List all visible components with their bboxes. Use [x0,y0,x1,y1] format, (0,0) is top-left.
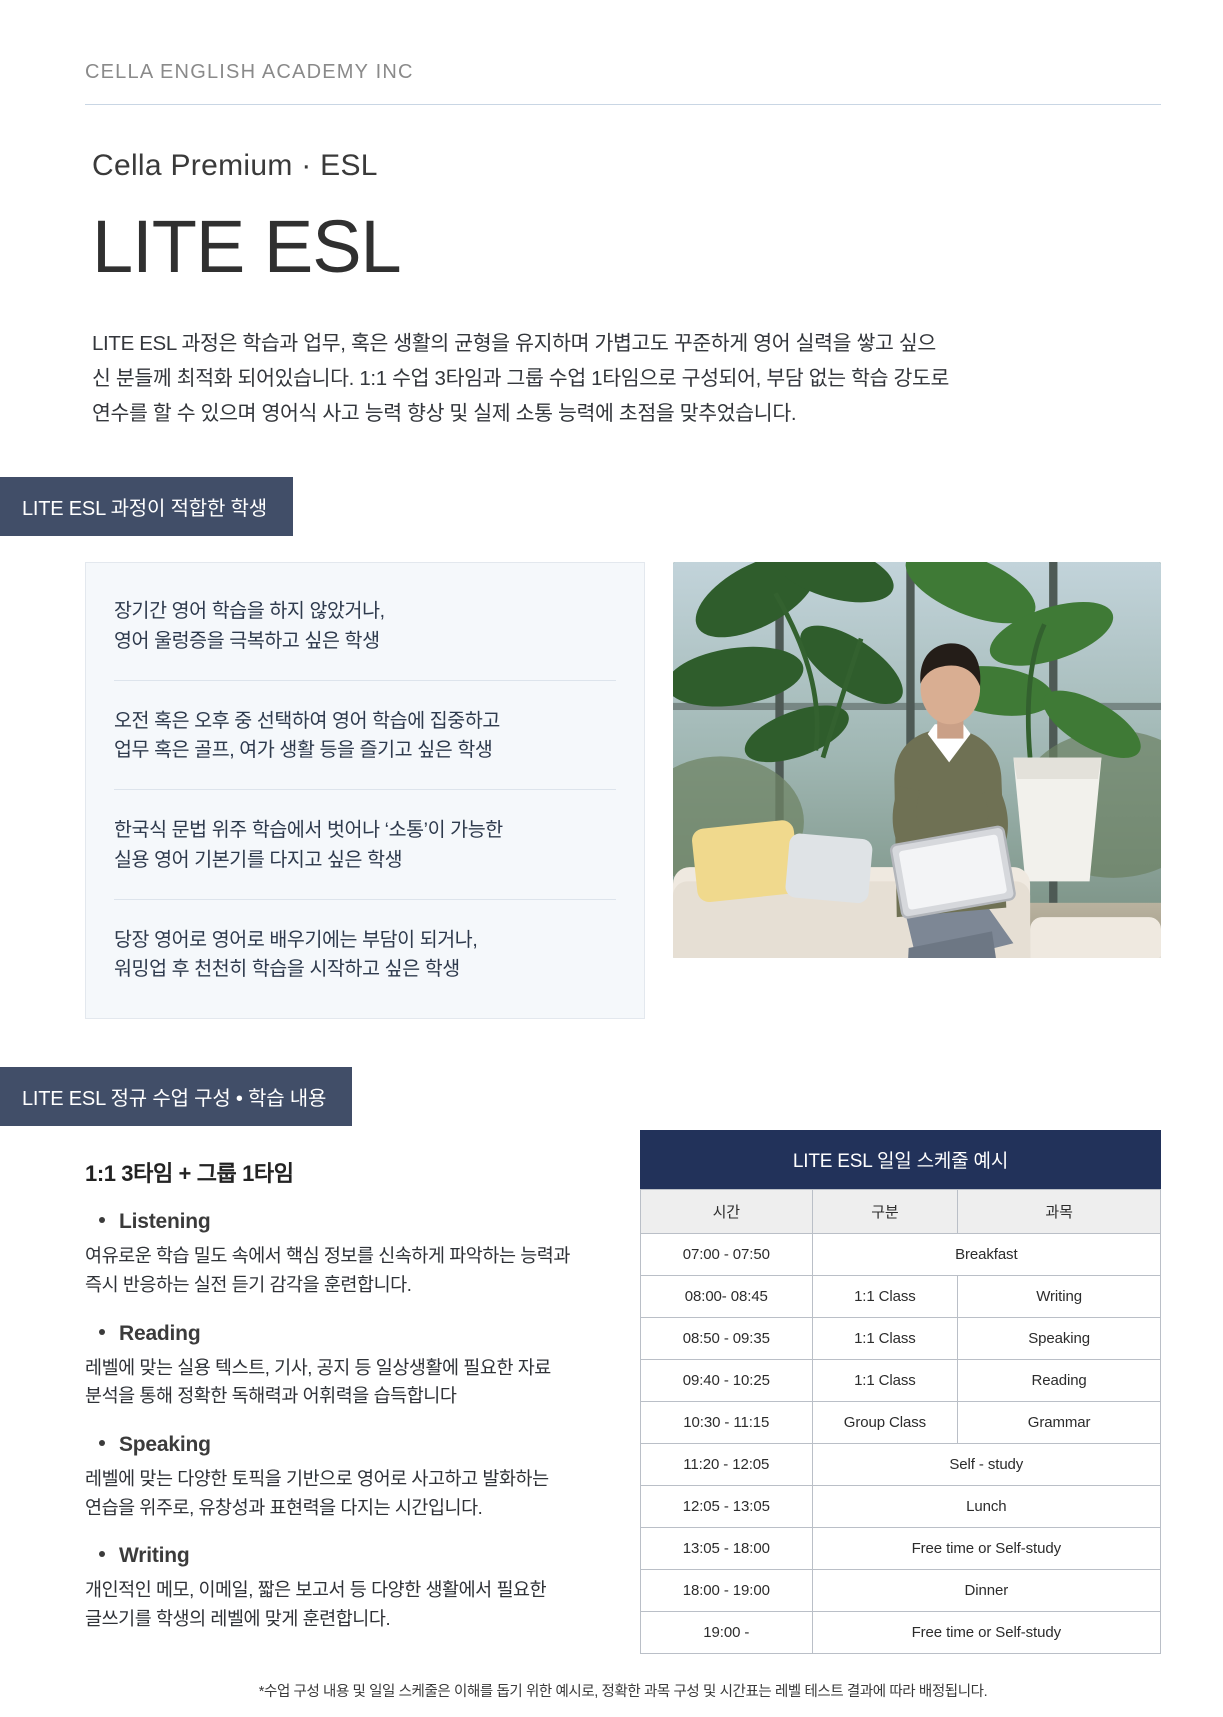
skill-description: 레벨에 맞는 다양한 토픽을 기반으로 영어로 사고하고 발화하는 연습을 위주… [85,1465,620,1522]
cell-subject: Dinner [812,1570,1160,1612]
list-item: Writing 개인적인 메모, 이메일, 짧은 보고서 등 다양한 생활에서 … [85,1544,620,1633]
section-1-banner-wrap: LITE ESL 과정이 적합한 학생 [0,477,1223,536]
cell-subject: Lunch [812,1486,1160,1528]
criteria-line: 영어 울렁증을 극복하고 싶은 학생 [114,627,616,656]
cell-subject: Reading [958,1360,1161,1402]
criteria-line: 워밍업 후 천천히 학습을 시작하고 싶은 학생 [114,955,616,984]
skill-desc-line: 레벨에 맞는 다양한 토픽을 기반으로 영어로 사고하고 발화하는 [85,1465,620,1494]
schedule-title: LITE ESL 일일 스케줄 예시 [640,1130,1161,1189]
skill-label: Writing [119,1544,190,1568]
cell-subject: Grammar [958,1402,1161,1444]
skill-description: 개인적인 메모, 이메일, 짧은 보고서 등 다양한 생활에서 필요한 글쓰기를… [85,1576,620,1633]
cell-time: 18:00 - 19:00 [641,1570,813,1612]
skill-name-row: Reading [85,1322,620,1346]
criteria-line: 한국식 문법 위주 학습에서 벗어나 ‘소통’이 가능한 [114,816,616,845]
skill-label: Reading [119,1322,200,1346]
table-row: 11:20 - 12:05Self - study [641,1444,1161,1486]
skill-name-row: Speaking [85,1433,620,1457]
skill-label: Listening [119,1210,211,1234]
intro-line-2: 신 분들께 최적화 되어있습니다. 1:1 수업 3타임과 그룹 수업 1타임으… [92,361,1161,396]
curriculum-schedule-row: 1:1 3타임 + 그룹 1타임 Listening 여유로운 학습 밀도 속에… [0,1126,1223,1654]
cell-type: 1:1 Class [812,1318,958,1360]
title-block: Cella Premium · ESL LITE ESL [0,105,1223,286]
list-item: Reading 레벨에 맞는 실용 텍스트, 기사, 공지 등 일상생활에 필요… [85,1322,620,1411]
lounge-photo [673,562,1161,958]
schedule-column: LITE ESL 일일 스케줄 예시 시간 구분 과목 07:00 - 07:5… [640,1130,1223,1654]
cell-time: 10:30 - 11:15 [641,1402,813,1444]
page-title: LITE ESL [92,208,1223,286]
list-item: Listening 여유로운 학습 밀도 속에서 핵심 정보를 신속하게 파악하… [85,1210,620,1299]
table-row: 07:00 - 07:50Breakfast [641,1234,1161,1276]
list-item: 당장 영어로 영어로 배우기에는 부담이 되거나, 워밍업 후 천천히 학습을 … [114,899,616,1009]
cell-time: 13:05 - 18:00 [641,1528,813,1570]
skill-desc-line: 개인적인 메모, 이메일, 짧은 보고서 등 다양한 생활에서 필요한 [85,1576,620,1605]
page-eyebrow: Cella Premium · ESL [92,149,1223,182]
table-row: 08:50 - 09:351:1 ClassSpeaking [641,1318,1161,1360]
criteria-photo-row: 장기간 영어 학습을 하지 않았거나, 영어 울렁증을 극복하고 싶은 학생 오… [85,562,1161,1019]
table-row: 12:05 - 13:05Lunch [641,1486,1161,1528]
bullet-icon [99,1440,105,1446]
section-2-banner: LITE ESL 정규 수업 구성 • 학습 내용 [0,1067,352,1126]
cell-time: 09:40 - 10:25 [641,1360,813,1402]
cell-time: 19:00 - [641,1612,813,1654]
criteria-box: 장기간 영어 학습을 하지 않았거나, 영어 울렁증을 극복하고 싶은 학생 오… [85,562,645,1019]
table-row: 08:00- 08:451:1 ClassWriting [641,1276,1161,1318]
skill-desc-line: 글쓰기를 학생의 레벨에 맞게 훈련합니다. [85,1605,620,1634]
cell-subject: Writing [958,1276,1161,1318]
list-item: 한국식 문법 위주 학습에서 벗어나 ‘소통’이 가능한 실용 영어 기본기를 … [114,789,616,899]
schedule-table-body: 07:00 - 07:50Breakfast08:00- 08:451:1 Cl… [641,1234,1161,1654]
list-item: 장기간 영어 학습을 하지 않았거나, 영어 울렁증을 극복하고 싶은 학생 [114,571,616,680]
criteria-line: 오전 혹은 오후 중 선택하여 영어 학습에 집중하고 [114,707,616,736]
schedule-table: 시간 구분 과목 07:00 - 07:50Breakfast08:00- 08… [640,1189,1161,1654]
skill-name-row: Listening [85,1210,620,1234]
brand-name: CELLA ENGLISH ACADEMY INC [85,62,1223,82]
table-row: 13:05 - 18:00Free time or Self-study [641,1528,1161,1570]
skill-desc-line: 즉시 반응하는 실전 듣기 감각을 훈련합니다. [85,1271,620,1300]
curriculum-list: 1:1 3타임 + 그룹 1타임 Listening 여유로운 학습 밀도 속에… [0,1156,640,1633]
table-row: 18:00 - 19:00Dinner [641,1570,1161,1612]
skill-desc-line: 여유로운 학습 밀도 속에서 핵심 정보를 신속하게 파악하는 능력과 [85,1242,620,1271]
skill-label: Speaking [119,1433,211,1457]
skill-name-row: Writing [85,1544,620,1568]
cell-subject: Breakfast [812,1234,1160,1276]
brand-header: CELLA ENGLISH ACADEMY INC [0,0,1223,82]
intro-line-1: LITE ESL 과정은 학습과 업무, 혹은 생활의 균형을 유지하며 가볍고… [92,326,1161,361]
section-1-banner: LITE ESL 과정이 적합한 학생 [0,477,293,536]
cell-subject: Free time or Self-study [812,1612,1160,1654]
lounge-photo-graphic [673,562,1161,958]
cell-subject: Speaking [958,1318,1161,1360]
criteria-line: 실용 영어 기본기를 다지고 싶은 학생 [114,846,616,875]
cell-time: 07:00 - 07:50 [641,1234,813,1276]
skill-desc-line: 연습을 위주로, 유창성과 표현력을 다지는 시간입니다. [85,1494,620,1523]
skill-description: 레벨에 맞는 실용 텍스트, 기사, 공지 등 일상생활에 필요한 자료 분석을… [85,1354,620,1411]
skill-desc-line: 레벨에 맞는 실용 텍스트, 기사, 공지 등 일상생활에 필요한 자료 [85,1354,620,1383]
table-row: 19:00 -Free time or Self-study [641,1612,1161,1654]
column-header-subject: 과목 [958,1190,1161,1234]
skill-desc-line: 분석을 통해 정확한 독해력과 어휘력을 습득합니다 [85,1382,620,1411]
cell-subject: Free time or Self-study [812,1528,1160,1570]
intro-line-3: 연수를 할 수 있으며 영어식 사고 능력 향상 및 실제 소통 능력에 초점을… [92,396,1161,431]
cell-type: 1:1 Class [812,1276,958,1318]
cell-time: 12:05 - 13:05 [641,1486,813,1528]
section-2-banner-wrap: LITE ESL 정규 수업 구성 • 학습 내용 [0,1067,1223,1126]
table-header-row: 시간 구분 과목 [641,1190,1161,1234]
criteria-line: 업무 혹은 골프, 여가 생활 등을 즐기고 싶은 학생 [114,736,616,765]
skill-description: 여유로운 학습 밀도 속에서 핵심 정보를 신속하게 파악하는 능력과 즉시 반… [85,1242,620,1299]
bullet-icon [99,1329,105,1335]
footnote: *수업 구성 내용 및 일일 스케줄은 이해를 돕기 위한 예시로, 정확한 과… [85,1680,1161,1701]
table-row: 09:40 - 10:251:1 ClassReading [641,1360,1161,1402]
curriculum-heading: 1:1 3타임 + 그룹 1타임 [85,1156,620,1188]
table-row: 10:30 - 11:15Group ClassGrammar [641,1402,1161,1444]
cell-subject: Self - study [812,1444,1160,1486]
intro-paragraph: LITE ESL 과정은 학습과 업무, 혹은 생활의 균형을 유지하며 가볍고… [92,326,1161,432]
criteria-line: 당장 영어로 영어로 배우기에는 부담이 되거나, [114,926,616,955]
bullet-icon [99,1551,105,1557]
cell-time: 08:00- 08:45 [641,1276,813,1318]
bullet-icon [99,1217,105,1223]
curriculum-column: 1:1 3타임 + 그룹 1타임 Listening 여유로운 학습 밀도 속에… [0,1126,640,1633]
cell-time: 11:20 - 12:05 [641,1444,813,1486]
cell-type: 1:1 Class [812,1360,958,1402]
list-item: 오전 혹은 오후 중 선택하여 영어 학습에 집중하고 업무 혹은 골프, 여가… [114,680,616,790]
criteria-line: 장기간 영어 학습을 하지 않았거나, [114,597,616,626]
list-item: Speaking 레벨에 맞는 다양한 토픽을 기반으로 영어로 사고하고 발화… [85,1433,620,1522]
column-header-time: 시간 [641,1190,813,1234]
column-header-type: 구분 [812,1190,958,1234]
cell-time: 08:50 - 09:35 [641,1318,813,1360]
cell-type: Group Class [812,1402,958,1444]
